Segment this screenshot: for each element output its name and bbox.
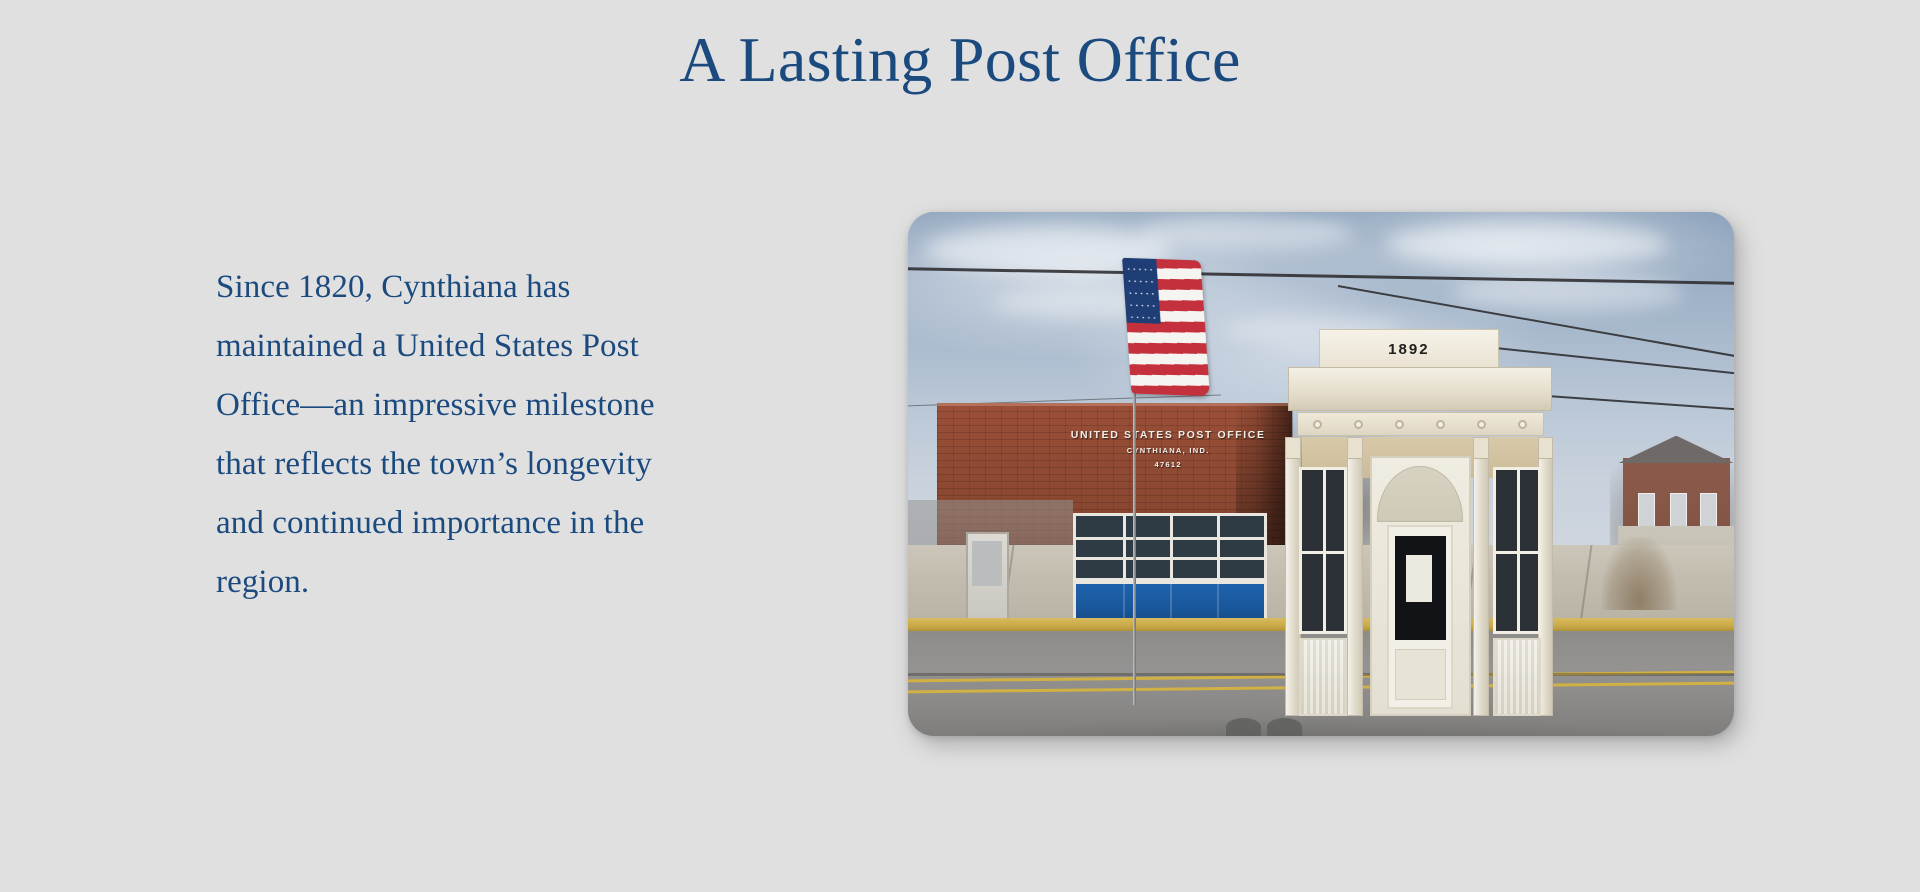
slide-canvas: A Lasting Post Office Since 1820, Cynthi…	[0, 0, 1920, 892]
cornice	[1288, 367, 1552, 412]
pilaster	[1473, 437, 1488, 716]
sign-line-3: 47612	[1065, 460, 1272, 469]
datestone: 1892	[1319, 329, 1499, 370]
medallion-band	[1297, 412, 1544, 436]
italianate-facade: 1892	[1280, 367, 1561, 736]
post-office-sign: UNITED STATES POST OFFICE CYNTHIANA, IND…	[1065, 429, 1272, 469]
medallion	[1436, 420, 1445, 429]
medallion	[1395, 420, 1404, 429]
datestone-year: 1892	[1388, 341, 1429, 358]
medallion	[1477, 420, 1486, 429]
body-paragraph: Since 1820, Cynthiana has maintained a U…	[216, 258, 686, 612]
flagpole	[1133, 369, 1136, 704]
entry-arch	[1377, 466, 1462, 522]
cloud	[1139, 215, 1354, 250]
door-lower-panel	[1395, 649, 1446, 700]
road-marking	[1226, 718, 1261, 736]
entry-bay	[1370, 456, 1471, 716]
storefront-window	[1299, 467, 1347, 634]
cloud	[1387, 222, 1668, 267]
shrub	[1602, 537, 1676, 610]
post-office-photo: UNITED STATES POST OFFICE CYNTHIANA, IND…	[908, 212, 1734, 736]
door-notice	[1406, 555, 1432, 602]
bulkhead-panel	[1493, 638, 1541, 716]
medallion	[1313, 420, 1322, 429]
side-door	[966, 532, 1009, 624]
pilaster	[1347, 437, 1362, 716]
entry-door	[1387, 525, 1453, 710]
photo-canvas: UNITED STATES POST OFFICE CYNTHIANA, IND…	[908, 212, 1734, 736]
sign-line-1: UNITED STATES POST OFFICE	[1065, 429, 1272, 441]
bulkhead-panel	[1299, 638, 1347, 716]
flag-canton	[1122, 258, 1160, 324]
post-office-window	[1073, 513, 1267, 581]
door-glass	[972, 541, 1002, 587]
storefront-window	[1493, 467, 1541, 634]
sign-line-2: CYNTHIANA, IND.	[1065, 446, 1272, 455]
medallion	[1518, 420, 1527, 429]
medallion	[1354, 420, 1363, 429]
page-title: A Lasting Post Office	[0, 24, 1920, 96]
american-flag-icon	[1122, 258, 1210, 397]
